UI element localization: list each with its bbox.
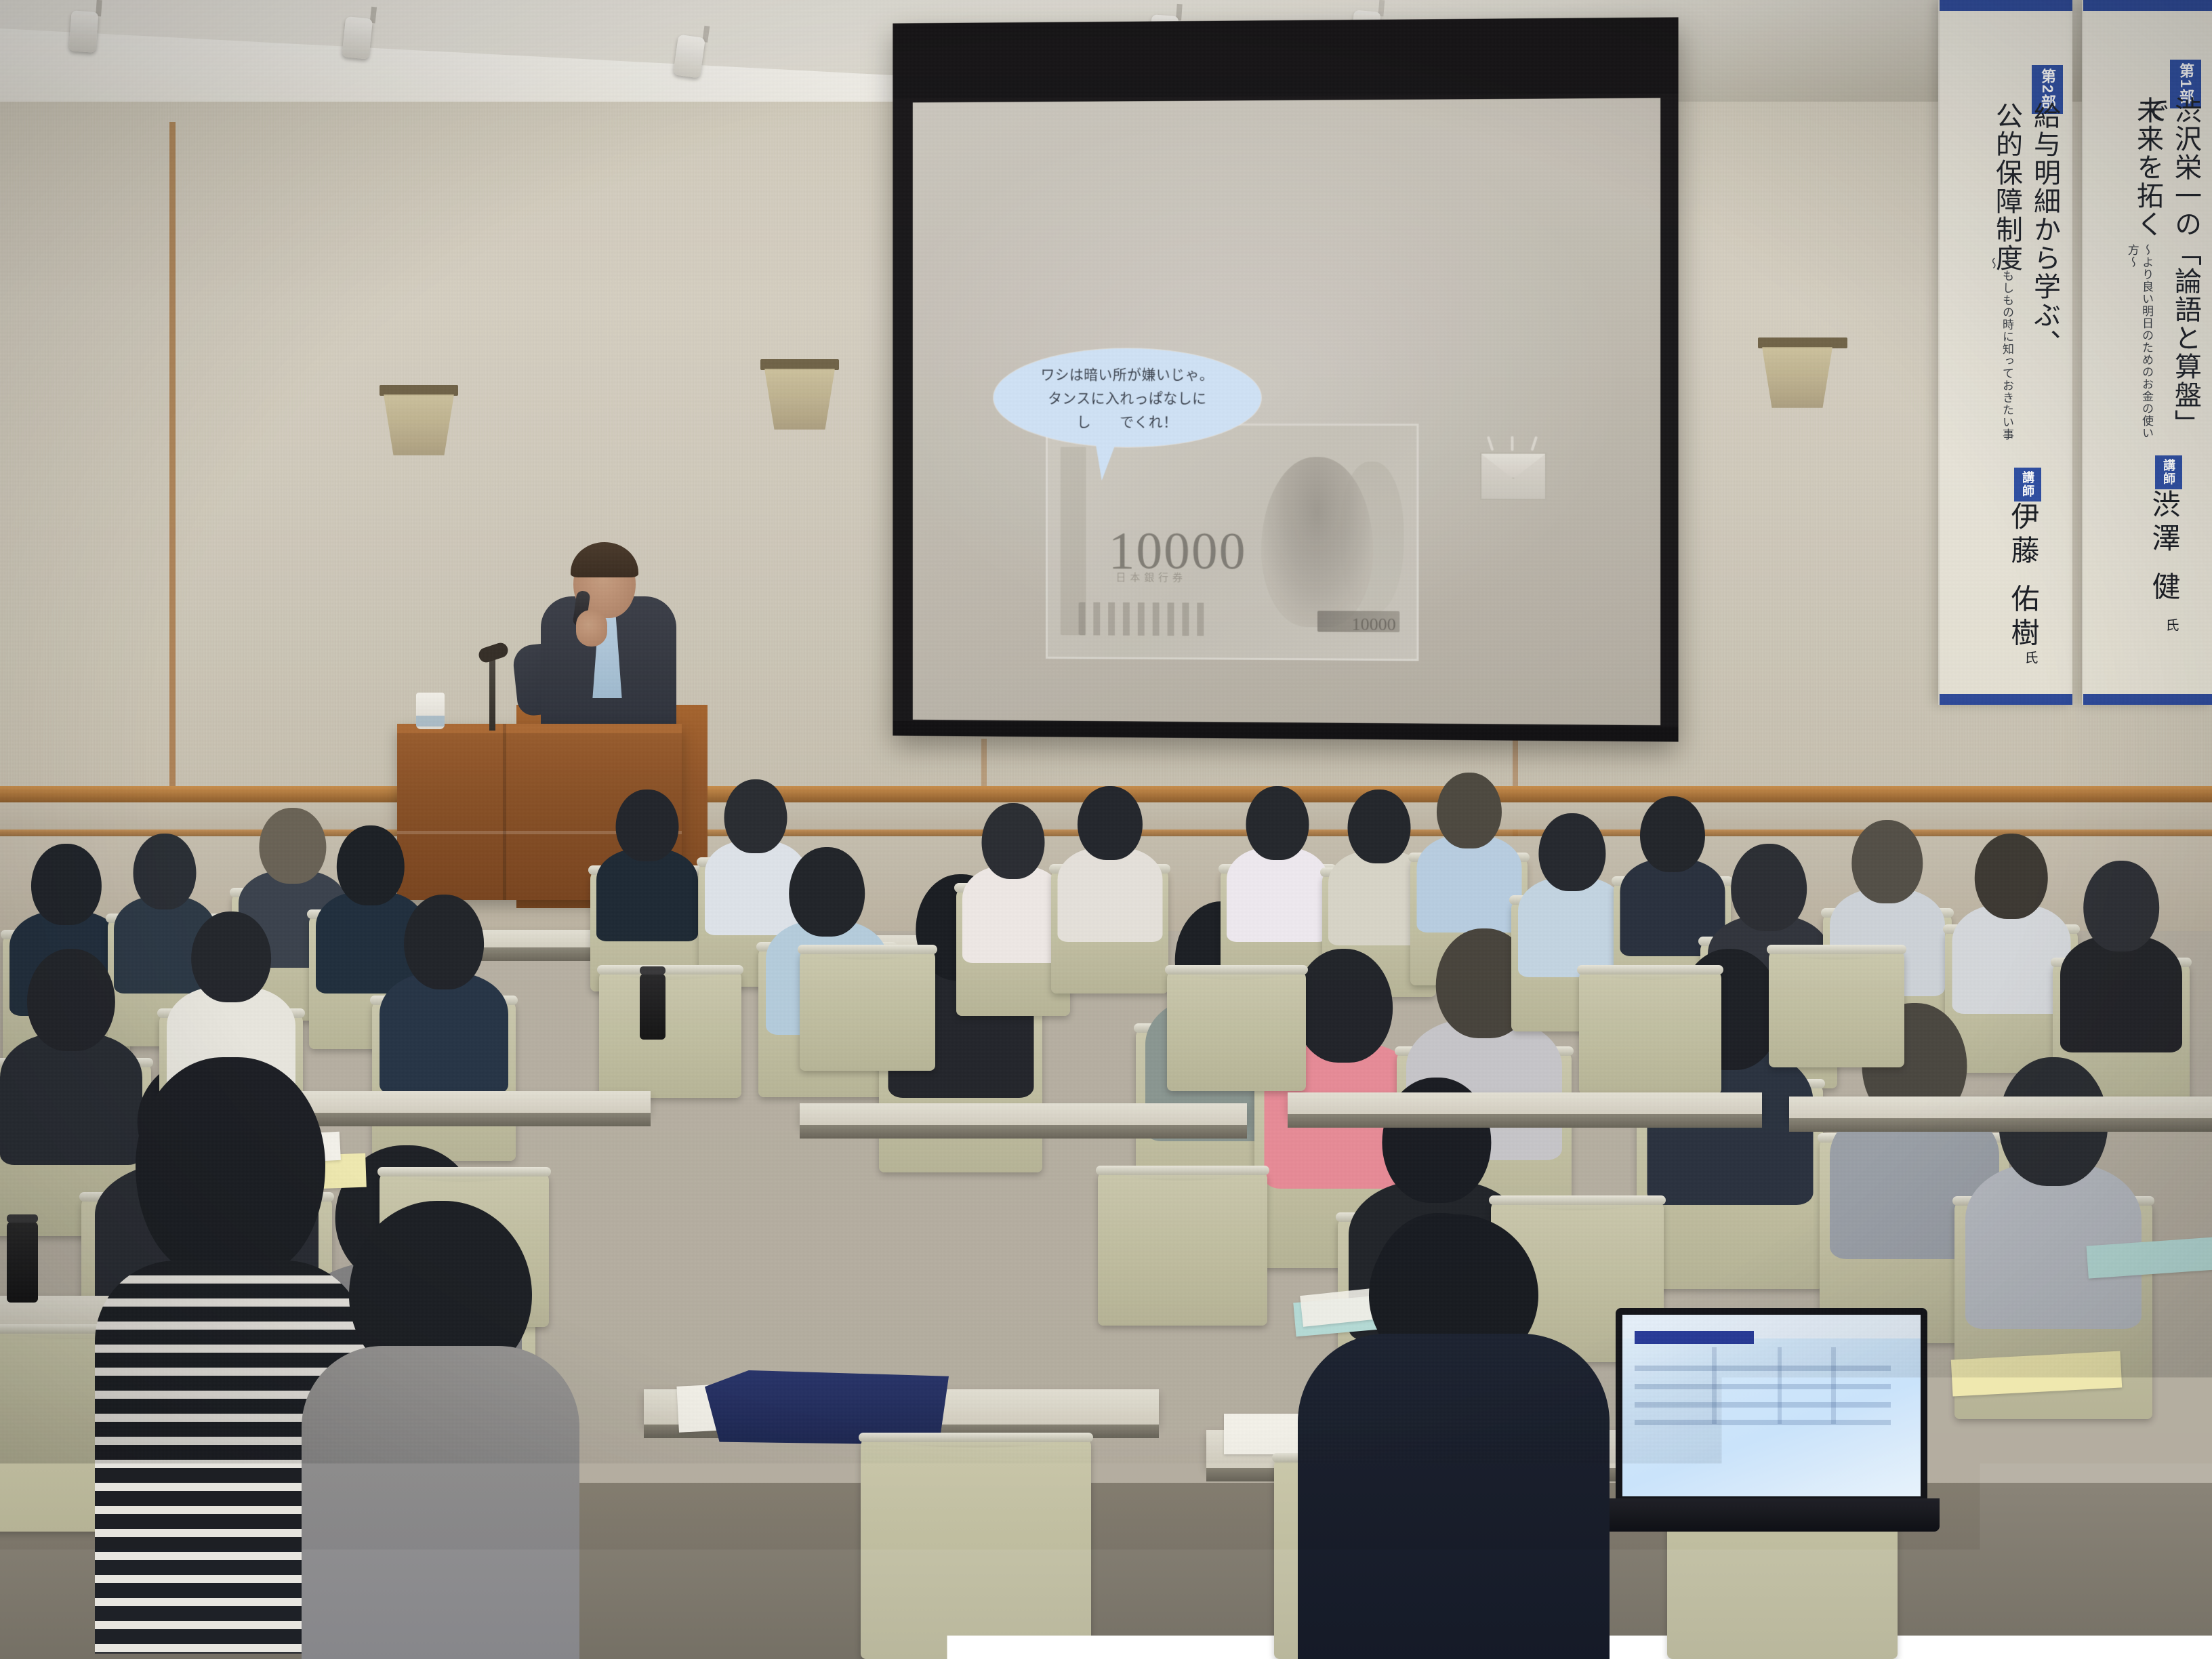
stacking-chair	[1769, 949, 1904, 1067]
audience-member	[1227, 786, 1328, 918]
track-spotlight	[355, 5, 388, 61]
audience-member	[1057, 786, 1162, 918]
banknote-pattern	[1079, 602, 1205, 636]
sparkle-line	[1511, 436, 1513, 451]
person-head	[27, 949, 115, 1051]
person-torso	[1298, 1334, 1610, 1659]
person-torso	[596, 848, 698, 941]
spotlight-head	[673, 35, 705, 79]
wall-seam-vertical	[169, 122, 176, 806]
person-head	[1294, 949, 1393, 1063]
banner-title-line-1: 給与明細から学ぶ、	[2028, 102, 2060, 413]
spreadsheet-row	[1635, 1402, 1891, 1408]
chair-top-rim	[798, 945, 937, 954]
audience-member	[1416, 773, 1521, 908]
person-head	[191, 912, 271, 1002]
seminar-table	[1288, 1092, 1762, 1114]
banner-speaker-suffix: 氏	[2161, 618, 2181, 632]
banner-bottom-bar	[2083, 694, 2212, 705]
person-head	[982, 803, 1045, 879]
banner-bottom-bar	[1940, 694, 2072, 705]
sconce-shade	[764, 369, 835, 430]
speaker-hand	[576, 610, 607, 647]
chair-top-rim	[1096, 1166, 1269, 1175]
laptop-screen[interactable]	[1622, 1315, 1921, 1496]
person-head	[789, 847, 865, 937]
stacking-chair	[800, 949, 935, 1071]
person-head	[134, 834, 197, 909]
person-head	[1077, 786, 1142, 860]
envelope-icon	[1480, 453, 1547, 501]
person-head	[1246, 786, 1309, 860]
person-head	[337, 825, 405, 905]
banner-top-bar	[1940, 0, 2072, 11]
spreadsheet-column	[1778, 1347, 1782, 1423]
podium-panel-split	[503, 724, 506, 900]
banner-speaker-name: 伊藤 佑樹	[2003, 501, 2044, 657]
paper-cup	[416, 693, 445, 729]
person-head	[1639, 796, 1704, 872]
audience-member	[1518, 813, 1626, 952]
chair-top-rim	[859, 1433, 1093, 1442]
screen-frame: 10000 日本銀行券 10000 ワシは暗い所が嫌いじゃ。 タンスに入れっぱな…	[893, 17, 1678, 741]
spreadsheet-column	[1712, 1347, 1717, 1423]
audience-member	[167, 912, 295, 1074]
person-torso	[2060, 935, 2182, 1052]
spreadsheet-row	[1635, 1384, 1891, 1389]
audience-member	[962, 803, 1064, 939]
foreground-person-navy-sweater	[1294, 1214, 1613, 1659]
person-head	[1436, 773, 1501, 848]
wall-sconce	[1758, 337, 1847, 408]
speech-bubble-line-2: タンスに入れっぱなしに	[1048, 388, 1206, 408]
person-head	[1538, 813, 1605, 891]
audience-member	[596, 790, 698, 918]
person-head	[616, 790, 679, 861]
gooseneck-microphone-stand	[489, 657, 495, 731]
person-head	[31, 844, 102, 925]
stacking-chair	[599, 969, 741, 1098]
bottle-cap	[7, 1214, 38, 1223]
seminar-table	[800, 1103, 1247, 1125]
person-torso	[1227, 847, 1328, 942]
sconce-shade	[384, 394, 454, 455]
person-head	[724, 779, 787, 853]
slide-content: 10000 日本銀行券 10000 ワシは暗い所が嫌いじゃ。 タンスに入れっぱな…	[1046, 424, 1418, 661]
audience-member	[2060, 861, 2182, 1023]
chair-top-rim	[1577, 965, 1723, 975]
banner-top-bar	[2083, 0, 2212, 11]
speech-bubble-line-1: ワシは暗い所が嫌いじゃ。	[1041, 364, 1214, 384]
banner-speaker-badge: 講師	[2155, 455, 2182, 489]
stacking-chair	[1167, 969, 1306, 1091]
spreadsheet-row	[1635, 1420, 1891, 1425]
banner-part-1: 第1部 渋沢栄一の「論語と算盤」で 未来を拓く ～より良い明日のためのお金の使い…	[2082, 0, 2212, 705]
person-head	[1731, 844, 1807, 931]
laptop-lid	[1616, 1308, 1927, 1500]
banner-part-2: 第2部 給与明細から学ぶ、 公的保障制度 ～もしもの時に知っておきたい事～ 講師…	[1938, 0, 2072, 705]
screen-surface: 10000 日本銀行券 10000 ワシは暗い所が嫌いじゃ。 タンスに入れっぱな…	[913, 98, 1660, 726]
seminar-table	[1789, 1097, 2212, 1118]
projection-screen: 10000 日本銀行券 10000 ワシは暗い所が嫌いじゃ。 タンスに入れっぱな…	[889, 20, 1675, 739]
banknote-portrait	[1261, 457, 1374, 628]
seminar-room-photo: 10000 日本銀行券 10000 ワシは暗い所が嫌いじゃ。 タンスに入れっぱな…	[0, 0, 2212, 1659]
sconce-cap	[760, 359, 839, 370]
speech-bubble: ワシは暗い所が嫌いじゃ。 タンスに入れっぱなしに しないでくれ！	[994, 348, 1261, 447]
track-spotlight	[82, 0, 112, 54]
stacking-chair	[861, 1437, 1091, 1659]
spreadsheet-column	[1831, 1347, 1836, 1423]
spreadsheet-row	[1635, 1366, 1891, 1371]
banknote-micro-text: 日本銀行券	[1116, 570, 1187, 584]
banner-speaker-badge: 講師	[2014, 468, 2041, 501]
wall-sconce	[760, 359, 839, 430]
water-bottle	[7, 1221, 38, 1303]
person-head	[136, 1057, 325, 1274]
laptop-base	[1603, 1498, 1940, 1532]
wall-sconce	[380, 385, 458, 455]
person-head	[1974, 834, 2048, 919]
stacking-chair	[1579, 969, 1721, 1094]
person-head	[2083, 861, 2159, 951]
spotlight-head	[68, 10, 98, 53]
stacking-chair	[1098, 1170, 1267, 1326]
spotlight-head	[342, 16, 373, 60]
sconce-cap	[1758, 337, 1847, 348]
banner-speaker-name: 渋澤 健	[2144, 489, 2185, 625]
chair-top-rim	[597, 965, 743, 975]
person-torso	[1518, 877, 1626, 977]
person-torso	[1416, 835, 1521, 933]
bottle-cap	[640, 966, 665, 975]
person-head	[1851, 820, 1923, 903]
person-torso	[380, 972, 508, 1094]
chair-top-rim	[377, 1167, 551, 1176]
chair-top-rim	[1165, 965, 1308, 975]
sconce-cap	[380, 385, 458, 396]
open-laptop[interactable]	[1616, 1308, 1927, 1532]
person-head	[404, 895, 484, 989]
banknote-corner-denomination: 10000	[1352, 614, 1396, 634]
chair-top-rim	[1489, 1195, 1666, 1205]
sconce-shade	[1762, 347, 1832, 408]
banner-subtitle: ～もしもの時に知っておきたい事～	[1986, 258, 2015, 447]
banner-subtitle: ～より良い明日のためのお金の使い方～	[2125, 244, 2154, 447]
chair-top-rim	[1767, 945, 1906, 954]
person-torso	[302, 1346, 579, 1659]
spreadsheet-ribbon	[1635, 1331, 1754, 1344]
paper-cup-band	[416, 716, 445, 726]
water-bottle	[640, 973, 665, 1040]
screen-top-rail	[893, 17, 1678, 98]
audience-member	[380, 895, 508, 1064]
person-torso	[962, 865, 1064, 963]
banner-speaker-suffix: 氏	[2020, 651, 2040, 664]
foreground-person-grey-sweater	[298, 1201, 583, 1659]
person-head	[1348, 790, 1411, 863]
